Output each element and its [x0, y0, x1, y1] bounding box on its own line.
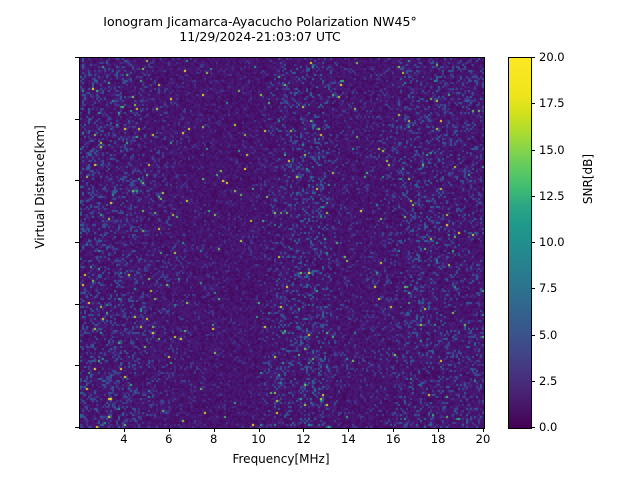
x-tick-label: 6 [149, 432, 189, 446]
colorbar-tick-mark [531, 288, 535, 289]
colorbar-tick-label: 12.5 [539, 191, 599, 201]
colorbar-tick-mark [531, 427, 535, 428]
colorbar-label: SNR[dB] [581, 79, 595, 279]
ionogram-figure: Ionogram Jicamarca-Ayacucho Polarization… [0, 0, 640, 480]
colorbar-tick-label: 7.5 [539, 283, 599, 293]
y-tick-mark [75, 57, 79, 58]
colorbar-tick-mark [531, 103, 535, 104]
colorbar-tick-label: 0.0 [539, 422, 599, 432]
colorbar-tick-mark [531, 57, 535, 58]
colorbar-tick-mark [531, 242, 535, 243]
colorbar-tick-label: 10.0 [539, 237, 599, 247]
y-tick-mark [75, 180, 79, 181]
x-tick-label: 4 [104, 432, 144, 446]
y-tick-mark [75, 365, 79, 366]
y-tick-mark [75, 427, 79, 428]
x-tick-label: 20 [463, 432, 503, 446]
colorbar-tick-label: 2.5 [539, 376, 599, 386]
snr-heatmap-canvas [80, 58, 484, 428]
colorbar-tick-mark [531, 381, 535, 382]
x-tick-label: 14 [328, 432, 368, 446]
x-tick-label: 10 [239, 432, 279, 446]
ionogram-plot-area[interactable] [79, 57, 485, 429]
y-axis-label: Virtual Distance[km] [33, 27, 47, 347]
colorbar-tick-mark [531, 335, 535, 336]
x-tick-label: 18 [418, 432, 458, 446]
y-tick-mark [75, 119, 79, 120]
colorbar-tick-label: 5.0 [539, 330, 599, 340]
colorbar-tick-label: 20.0 [539, 52, 599, 62]
x-tick-label: 8 [194, 432, 234, 446]
colorbar-tick-label: 15.0 [539, 145, 599, 155]
page-title: Ionogram Jicamarca-Ayacucho Polarization… [0, 14, 520, 44]
colorbar-tick-mark [531, 150, 535, 151]
y-tick-mark [75, 304, 79, 305]
x-tick-label: 16 [373, 432, 413, 446]
y-tick-mark [75, 242, 79, 243]
colorbar-gradient [508, 57, 532, 429]
colorbar-tick-label: 17.5 [539, 98, 599, 108]
colorbar-tick-mark [531, 196, 535, 197]
x-axis-label: Frequency[MHz] [79, 452, 483, 466]
x-tick-label: 12 [283, 432, 323, 446]
